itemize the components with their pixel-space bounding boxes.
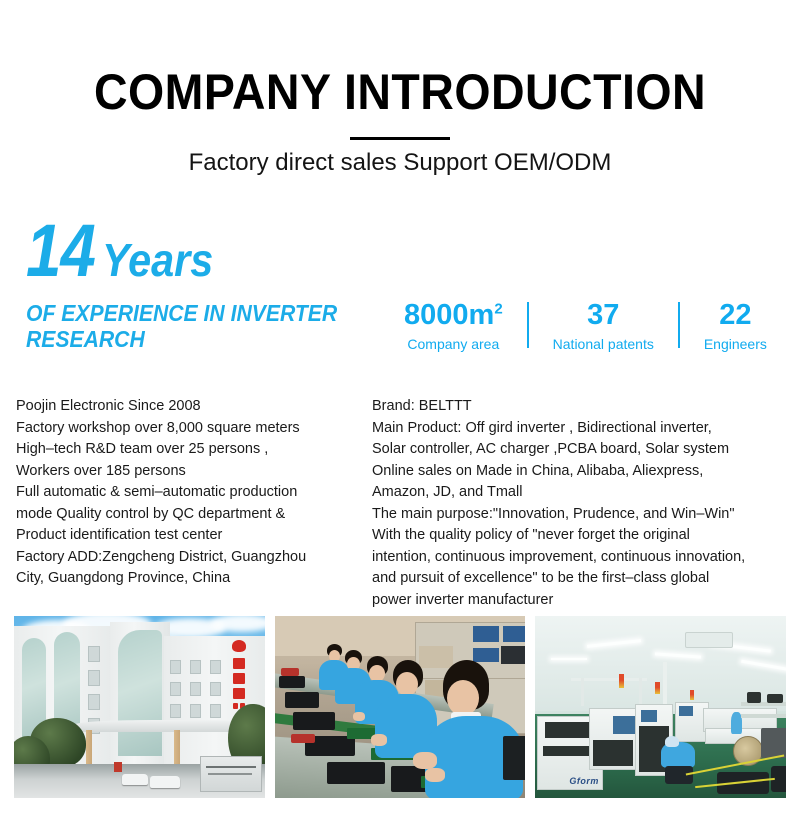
- company-fact-line: Workers over 185 persons: [16, 461, 346, 483]
- support-column: [639, 678, 642, 706]
- brand-info-line: and pursuit of excellence" to be the fir…: [372, 568, 792, 590]
- smt-workshop-scene: Gform: [535, 616, 786, 798]
- shelf-item: [767, 694, 783, 703]
- window: [170, 682, 181, 696]
- brand-info-line: With the quality policy of "never forget…: [372, 525, 792, 547]
- company-introduction-page: COMPANY INTRODUCTION Factory direct sale…: [0, 0, 800, 839]
- brand-info-line: Amazon, JD, and Tmall: [372, 482, 792, 504]
- product-tray: [285, 692, 319, 708]
- brand-products-column: Brand: BELTTT Main Product: Off gird inv…: [372, 396, 792, 611]
- machine-control-screen: [679, 706, 693, 716]
- brand-info-line: intention, continuous improvement, conti…: [372, 547, 792, 569]
- ceiling-air-vent: [685, 632, 733, 648]
- worker-hand: [371, 734, 387, 746]
- window: [170, 660, 181, 674]
- blue-parts-bin: [503, 626, 526, 642]
- brand-info-line: Brand: BELTTT: [372, 396, 792, 418]
- page-header: COMPANY INTRODUCTION Factory direct sale…: [0, 0, 800, 177]
- signal-tower-light: [619, 674, 624, 688]
- company-stats-row: 8000m2 Company area 37 National patents …: [390, 298, 790, 370]
- page-title: COMPANY INTRODUCTION: [28, 66, 772, 118]
- window: [190, 682, 201, 696]
- brand-info-line: Main Product: Off gird inverter , Bidire…: [372, 418, 792, 440]
- product-tray: [279, 676, 305, 688]
- wall-shelf: [741, 714, 786, 718]
- company-fact-line: High–tech R&D team over 25 persons ,: [16, 439, 346, 461]
- stat-engineers-label: Engineers: [704, 334, 767, 354]
- assembly-line-scene: [275, 616, 526, 798]
- worker-hand: [353, 712, 365, 721]
- window: [88, 646, 100, 662]
- company-fact-line: Product identification test center: [16, 525, 346, 547]
- product-tray: [293, 712, 335, 730]
- red-component-case: [281, 668, 299, 676]
- stat-national-patents-label: National patents: [553, 334, 654, 354]
- ceiling-light: [551, 658, 587, 660]
- assembly-line-workers-photo: [275, 616, 526, 798]
- years-experience-block: 14Years OF EXPERIENCE IN INVERTER RESEAR…: [26, 214, 376, 352]
- brand-info-line: power inverter manufacturer: [372, 590, 792, 612]
- parked-car: [122, 774, 148, 785]
- blue-parts-bin: [473, 648, 499, 662]
- window: [210, 704, 221, 718]
- factory-building-scene: [14, 616, 265, 798]
- company-logo-mark: [232, 640, 246, 652]
- company-fact-line: mode Quality control by QC department &: [16, 504, 346, 526]
- signal-tower-light: [690, 690, 694, 700]
- dark-bin: [503, 736, 526, 780]
- brand-info-line: The main purpose:"Innovation, Prudence, …: [372, 504, 792, 526]
- window: [88, 670, 100, 686]
- curved-glass-facade: [118, 630, 162, 756]
- red-marker: [114, 762, 122, 772]
- signal-tower-light: [655, 682, 660, 694]
- brand-info-line: Online sales on Made in China, Alibaba, …: [372, 461, 792, 483]
- machine-control-screen: [613, 716, 635, 734]
- company-fact-line: Full automatic & semi–automatic producti…: [16, 482, 346, 504]
- stat-national-patents-value: 37: [553, 298, 654, 332]
- stat-company-area-value: 8000m2: [404, 298, 503, 332]
- years-unit-label: Years: [102, 237, 213, 283]
- company-fact-line: Poojin Electronic Since 2008: [16, 396, 346, 418]
- equipment-cart: [761, 728, 786, 758]
- smt-workshop-photo: Gform: [535, 616, 786, 798]
- worker-hand: [425, 768, 445, 782]
- worker-cap: [665, 736, 679, 747]
- stat-divider-1: [527, 302, 529, 348]
- company-fact-line: Factory workshop over 8,000 square meter…: [16, 418, 346, 440]
- company-fact-line: City, Guangdong Province, China: [16, 568, 346, 590]
- page-subtitle: Factory direct sales Support OEM/ODM: [0, 149, 800, 177]
- window: [210, 660, 221, 674]
- company-fact-line: Factory ADD:Zengcheng District, Guangzho…: [16, 547, 346, 569]
- title-divider: [350, 137, 450, 140]
- window: [190, 660, 201, 674]
- years-headline: 14Years: [26, 214, 376, 288]
- square-meter-superscript: 2: [494, 300, 502, 317]
- worker-hand: [413, 752, 437, 769]
- red-component-case: [291, 734, 315, 743]
- years-caption: OF EXPERIENCE IN INVERTER RESEARCH: [26, 300, 339, 352]
- board-text-line: [208, 773, 252, 775]
- worker-head: [396, 672, 418, 696]
- window: [170, 704, 181, 718]
- blue-parts-bin: [473, 626, 499, 642]
- stat-national-patents: 37 National patents: [539, 298, 668, 354]
- shelf-item: [747, 692, 761, 703]
- carton-box: [419, 646, 453, 668]
- sign-character: [233, 688, 245, 699]
- support-column: [581, 678, 584, 706]
- board-text-line: [206, 766, 256, 768]
- window: [210, 682, 221, 696]
- factory-building-exterior-photo: [14, 616, 265, 798]
- years-number: 14: [26, 214, 95, 288]
- stat-engineers-value: 22: [704, 298, 767, 332]
- worker-legs: [665, 766, 693, 784]
- stat-divider-2: [678, 302, 680, 348]
- window: [88, 694, 100, 710]
- machine-control-screen: [641, 710, 657, 722]
- sign-character: [233, 658, 245, 669]
- brand-info-line: Solar controller, AC charger ,PCBA board…: [372, 439, 792, 461]
- product-tray: [327, 762, 385, 784]
- machine-lower-cabinet: [593, 740, 633, 766]
- parked-car: [150, 776, 180, 788]
- machine-brand-logo: Gform: [569, 776, 599, 786]
- sign-character: [233, 673, 245, 684]
- dark-equipment: [501, 646, 526, 664]
- factory-photo-strip: Gform: [14, 616, 786, 798]
- window: [190, 704, 201, 718]
- sign-character-small: [233, 703, 238, 709]
- worker-head: [447, 680, 479, 716]
- stat-company-area: 8000m2 Company area: [390, 298, 517, 354]
- company-facts-column: Poojin Electronic Since 2008 Factory wor…: [16, 396, 346, 590]
- stat-engineers: 22 Engineers: [690, 298, 781, 354]
- stat-company-area-label: Company area: [404, 334, 503, 354]
